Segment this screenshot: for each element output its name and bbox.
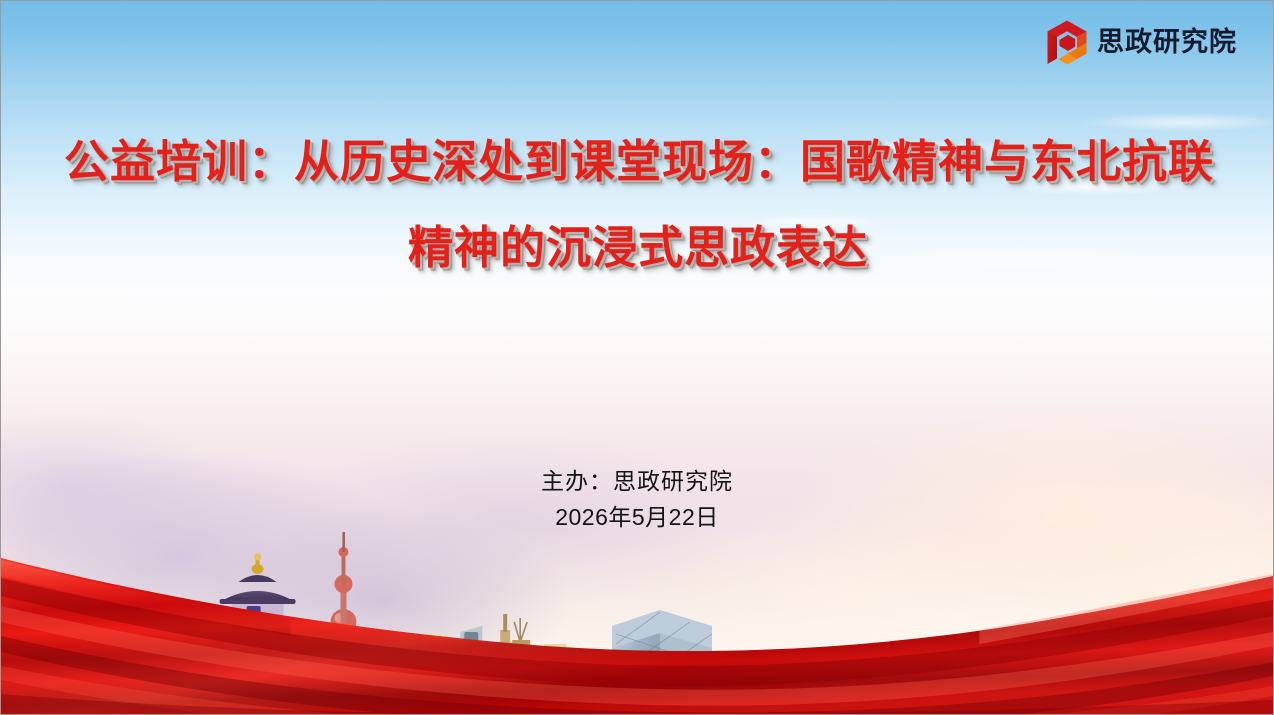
title-line-1: 公益培训：从历史深处到课堂现场：国歌精神与东北抗联 [1, 119, 1273, 205]
logo-text: 思政研究院 [1097, 29, 1237, 56]
hexagon-p-logo-icon [1046, 19, 1088, 66]
slide-title: 公益培训：从历史深处到课堂现场：国歌精神与东北抗联 精神的沉浸式思政表达 [1, 119, 1273, 291]
title-slide: 思政研究院 公益培训：从历史深处到课堂现场：国歌精神与东北抗联 精神的沉浸式思政… [0, 0, 1274, 715]
subtitle-date: 2026年5月22日 [1, 498, 1273, 537]
slide-subtitle: 主办：思政研究院 2026年5月22日 [1, 465, 1273, 537]
title-line-2: 精神的沉浸式思政表达 [1, 205, 1273, 291]
subtitle-host: 主办：思政研究院 [1, 465, 1273, 498]
brand-logo[interactable]: 思政研究院 [1046, 19, 1237, 66]
